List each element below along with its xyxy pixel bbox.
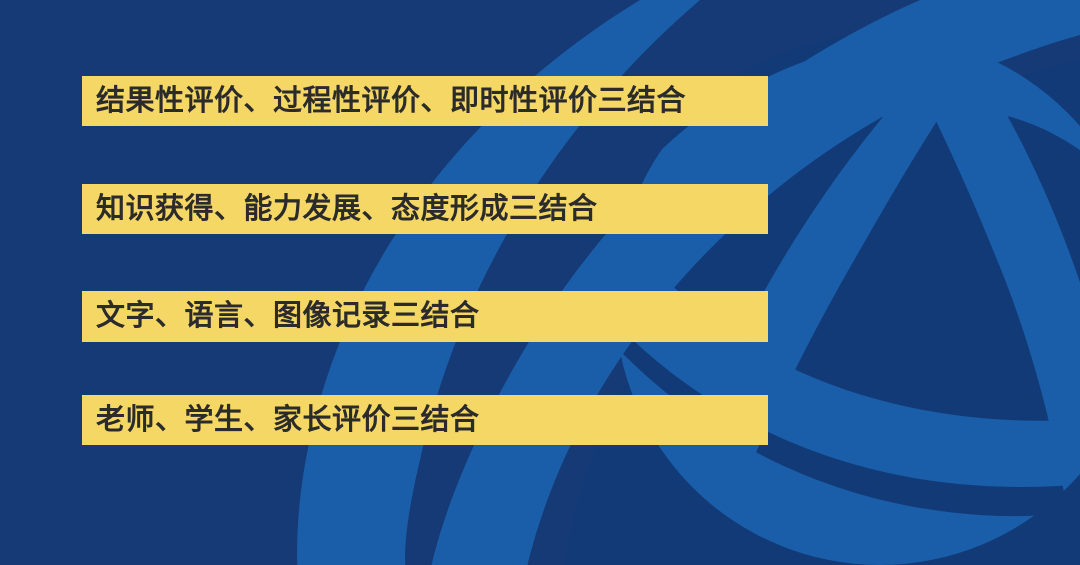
presentation-slide: 结果性评价、过程性评价、即时性评价三结合 知识获得、能力发展、态度形成三结合 文… <box>0 0 1080 565</box>
statement-bar-3-label: 文字、语言、图像记录三结合 <box>96 302 480 331</box>
statement-bar-4: 老师、学生、家长评价三结合 <box>82 395 768 445</box>
statement-bar-4-label: 老师、学生、家长评价三结合 <box>96 406 480 435</box>
statement-bar-3: 文字、语言、图像记录三结合 <box>82 291 768 342</box>
statement-bar-2-label: 知识获得、能力发展、态度形成三结合 <box>96 195 598 224</box>
statement-bar-1-label: 结果性评价、过程性评价、即时性评价三结合 <box>96 87 686 116</box>
statement-bar-2: 知识获得、能力发展、态度形成三结合 <box>82 184 768 234</box>
statement-bar-list: 结果性评价、过程性评价、即时性评价三结合 知识获得、能力发展、态度形成三结合 文… <box>0 0 1080 565</box>
statement-bar-1: 结果性评价、过程性评价、即时性评价三结合 <box>82 76 768 126</box>
